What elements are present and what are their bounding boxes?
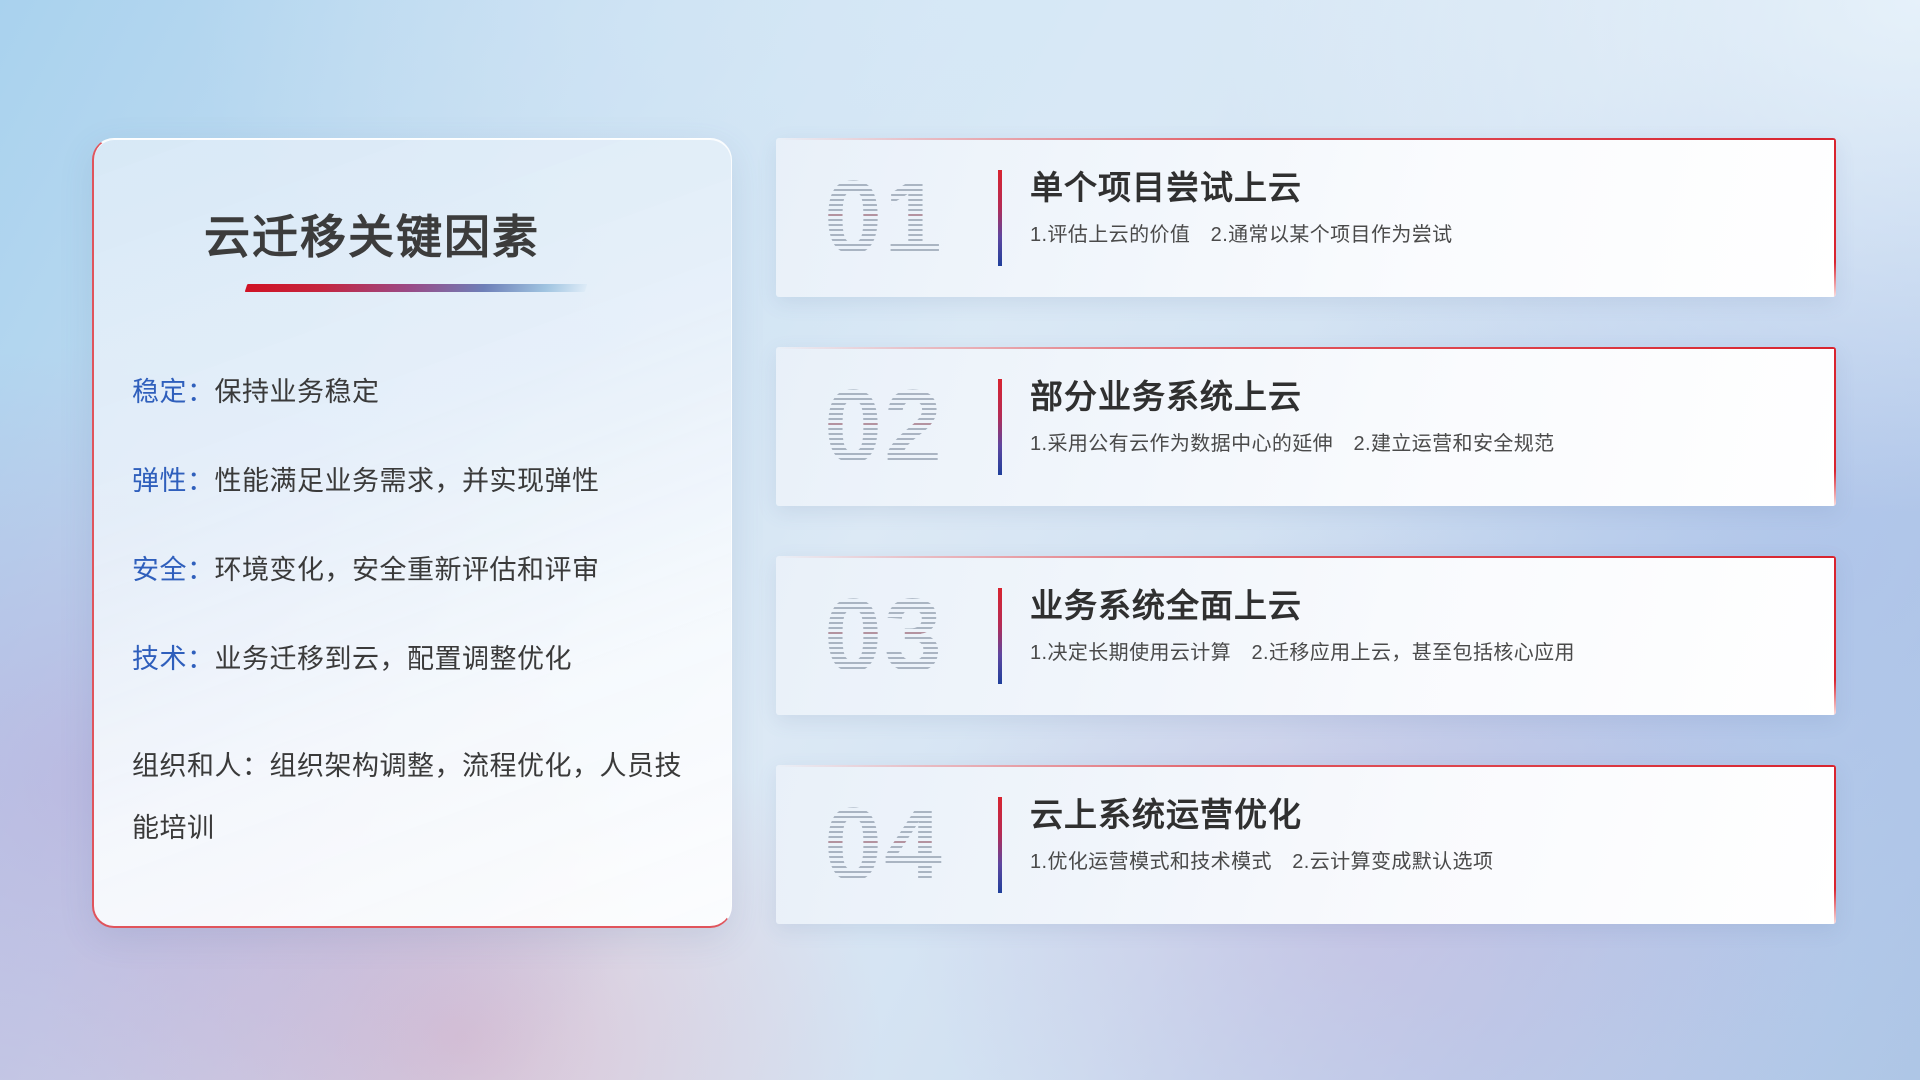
factor-list: 稳定：保持业务稳定 弹性：性能满足业务需求，并实现弹性 安全：环境变化，安全重新… [132, 379, 707, 859]
key-factors-panel: 云迁移关键因素 稳定：保持业务稳定 弹性：性能满足业务需求，并实现弹性 安全：环… [92, 138, 732, 928]
stage-number: 02 [794, 363, 974, 491]
stage-description: 1.采用公有云作为数据中心的延伸 2.建立运营和安全规范 [1030, 431, 1812, 457]
factor-item-organization-and-people: 组织和人：组织架构调整，流程优化，人员技能培训 [132, 735, 707, 859]
stage-description: 1.决定长期使用云计算 2.迁移应用上云，甚至包括核心应用 [1030, 640, 1812, 666]
stage-card-03[interactable]: 03 03 业务系统全面上云 1.决定长期使用云计算 2.迁移应用上云，甚至包括… [776, 556, 1836, 715]
stage-number: 03 [794, 572, 974, 700]
factor-label: 弹性： [132, 466, 215, 496]
factor-label: 稳定： [132, 377, 215, 407]
factor-item-security: 安全：环境变化，安全重新评估和评审 [132, 557, 707, 584]
stage-card-04[interactable]: 04 04 云上系统运营优化 1.优化运营模式和技术模式 2.云计算变成默认选项 [776, 765, 1836, 924]
factor-item-technology: 技术：业务迁移到云，配置调整优化 [132, 646, 707, 673]
factor-text: 性能满足业务需求，并实现弹性 [215, 466, 600, 496]
factor-label: 安全： [132, 555, 215, 585]
stage-number: 01 [794, 154, 974, 282]
stage-content: 云上系统运营优化 1.优化运营模式和技术模式 2.云计算变成默认选项 [1030, 795, 1812, 875]
factor-label: 组织和人： [132, 751, 270, 781]
title-underline-accent [245, 284, 588, 292]
stage-accent-bar [998, 588, 1002, 684]
stage-title: 单个项目尝试上云 [1030, 168, 1812, 208]
stage-card-02[interactable]: 02 02 部分业务系统上云 1.采用公有云作为数据中心的延伸 2.建立运营和安… [776, 347, 1836, 506]
stage-accent-bar [998, 379, 1002, 475]
stage-title: 云上系统运营优化 [1030, 795, 1812, 835]
stage-title: 部分业务系统上云 [1030, 377, 1812, 417]
factor-text: 业务迁移到云，配置调整优化 [215, 644, 573, 674]
factor-item-elasticity: 弹性：性能满足业务需求，并实现弹性 [132, 468, 707, 495]
stage-content: 业务系统全面上云 1.决定长期使用云计算 2.迁移应用上云，甚至包括核心应用 [1030, 586, 1812, 666]
stage-content: 单个项目尝试上云 1.评估上云的价值 2.通常以某个项目作为尝试 [1030, 168, 1812, 248]
stage-content: 部分业务系统上云 1.采用公有云作为数据中心的延伸 2.建立运营和安全规范 [1030, 377, 1812, 457]
stage-accent-bar [998, 797, 1002, 893]
migration-stage-list: 01 01 单个项目尝试上云 1.评估上云的价值 2.通常以某个项目作为尝试 0… [776, 138, 1836, 974]
factor-text: 保持业务稳定 [215, 377, 380, 407]
page-title: 云迁移关键因素 [204, 201, 540, 267]
factor-item-stability: 稳定：保持业务稳定 [132, 379, 707, 406]
stage-description: 1.评估上云的价值 2.通常以某个项目作为尝试 [1030, 222, 1812, 248]
stage-description: 1.优化运营模式和技术模式 2.云计算变成默认选项 [1030, 849, 1812, 875]
stage-accent-bar [998, 170, 1002, 266]
stage-card-01[interactable]: 01 01 单个项目尝试上云 1.评估上云的价值 2.通常以某个项目作为尝试 [776, 138, 1836, 297]
factor-text: 环境变化，安全重新评估和评审 [215, 555, 600, 585]
stage-title: 业务系统全面上云 [1030, 586, 1812, 626]
stage-number: 04 [794, 781, 974, 909]
factor-label: 技术： [132, 644, 215, 674]
